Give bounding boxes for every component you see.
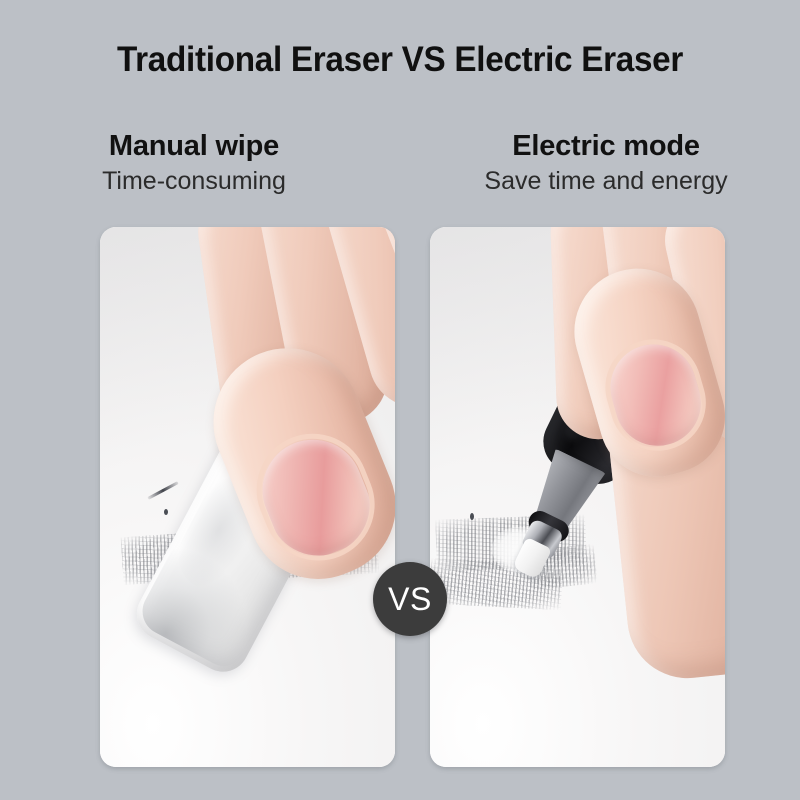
subheading-save-time: Save time and energy <box>400 165 800 197</box>
heading-manual-wipe: Manual wipe <box>0 128 400 164</box>
thumbnail <box>600 334 711 456</box>
eraser-crumb <box>164 509 168 515</box>
photo-card-manual <box>100 227 395 767</box>
thumbnail <box>248 425 384 570</box>
heading-electric-mode: Electric mode <box>400 128 800 164</box>
promo-banner: Traditional Eraser VS Electric Eraser Ma… <box>0 0 800 800</box>
photo-card-electric <box>430 227 725 767</box>
column-heading-electric: Electric mode Save time and energy <box>400 128 800 197</box>
eraser-crumb <box>470 513 474 520</box>
vs-badge: VS <box>373 562 447 636</box>
subheading-time-consuming: Time-consuming <box>0 165 400 197</box>
column-headings: Manual wipe Time-consuming Electric mode… <box>0 128 800 197</box>
page-title: Traditional Eraser VS Electric Eraser <box>20 40 780 80</box>
column-heading-manual: Manual wipe Time-consuming <box>0 128 400 197</box>
